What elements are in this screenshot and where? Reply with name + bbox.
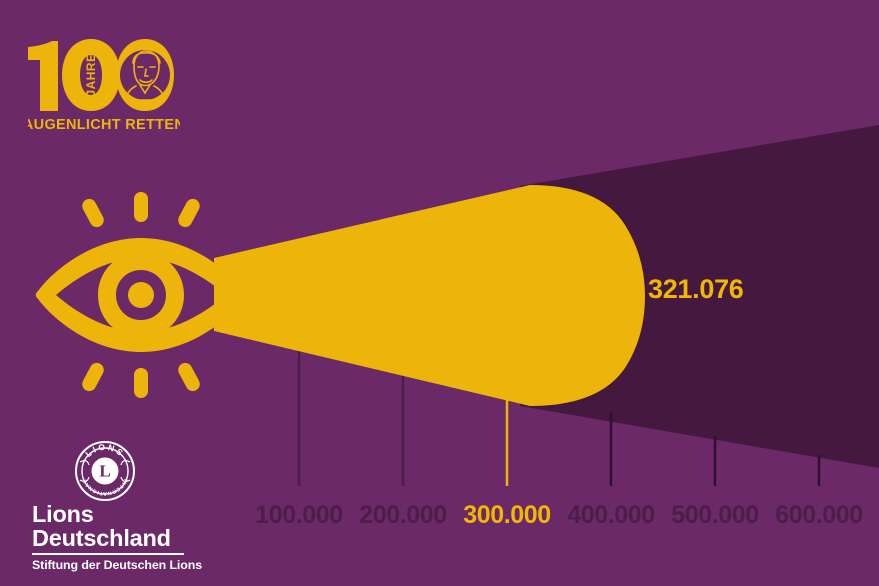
axis-label-400000: 400.000	[567, 501, 655, 530]
axis-label-500000: 500.000	[671, 501, 759, 530]
axis-label-300000: 300.000	[463, 501, 551, 530]
axis-label-600000: 600.000	[775, 501, 863, 530]
axis-label-group: 100.000200.000300.000400.000500.000600.0…	[0, 0, 879, 586]
infographic-canvas: JAHRE AUGENLICHT RETTEN	[0, 0, 879, 586]
axis-label-200000: 200.000	[359, 501, 447, 530]
value-callout: 321.076	[648, 274, 744, 305]
axis-label-100000: 100.000	[255, 501, 343, 530]
